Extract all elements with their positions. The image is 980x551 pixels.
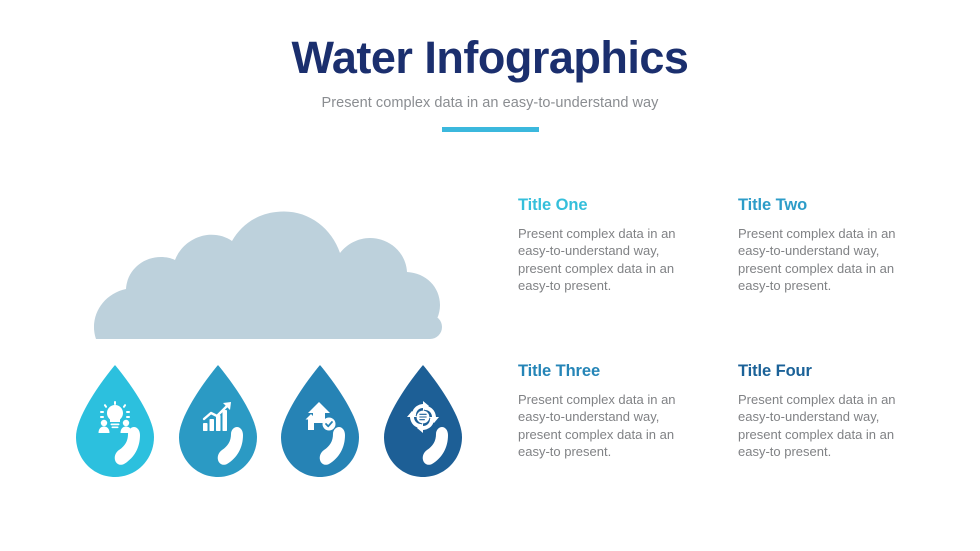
cloud-illustration (72, 205, 462, 340)
header: Water Infographics Present complex data … (0, 34, 980, 132)
infographic-slide: Water Infographics Present complex data … (0, 0, 980, 551)
droplet-1[interactable] (72, 363, 158, 483)
info-block-two: Title Two Present complex data in an eas… (738, 196, 910, 294)
droplet-shape-icon (277, 363, 363, 483)
title-accent-bar (442, 127, 539, 132)
droplets-row (72, 363, 466, 488)
info-title-four: Title Four (738, 362, 910, 380)
page-subtitle: Present complex data in an easy-to-under… (0, 95, 980, 111)
droplet-shape-icon (175, 363, 261, 483)
droplet-shape-icon (72, 363, 158, 483)
info-block-three: Title Three Present complex data in an e… (518, 362, 690, 460)
info-title-three: Title Three (518, 362, 690, 380)
info-block-one: Title One Present complex data in an eas… (518, 196, 690, 294)
info-block-four: Title Four Present complex data in an ea… (738, 362, 910, 460)
droplet-3[interactable] (277, 363, 363, 483)
droplet-4[interactable] (380, 363, 466, 483)
droplet-2[interactable] (175, 363, 261, 483)
content-grid: Title One Present complex data in an eas… (518, 196, 938, 516)
info-body-two: Present complex data in an easy-to-under… (738, 225, 910, 294)
page-title: Water Infographics (0, 34, 980, 83)
info-title-one: Title One (518, 196, 690, 214)
cloud-icon (72, 205, 462, 340)
info-body-four: Present complex data in an easy-to-under… (738, 391, 910, 460)
info-body-one: Present complex data in an easy-to-under… (518, 225, 690, 294)
droplet-shape-icon (380, 363, 466, 483)
info-body-three: Present complex data in an easy-to-under… (518, 391, 690, 460)
info-title-two: Title Two (738, 196, 910, 214)
